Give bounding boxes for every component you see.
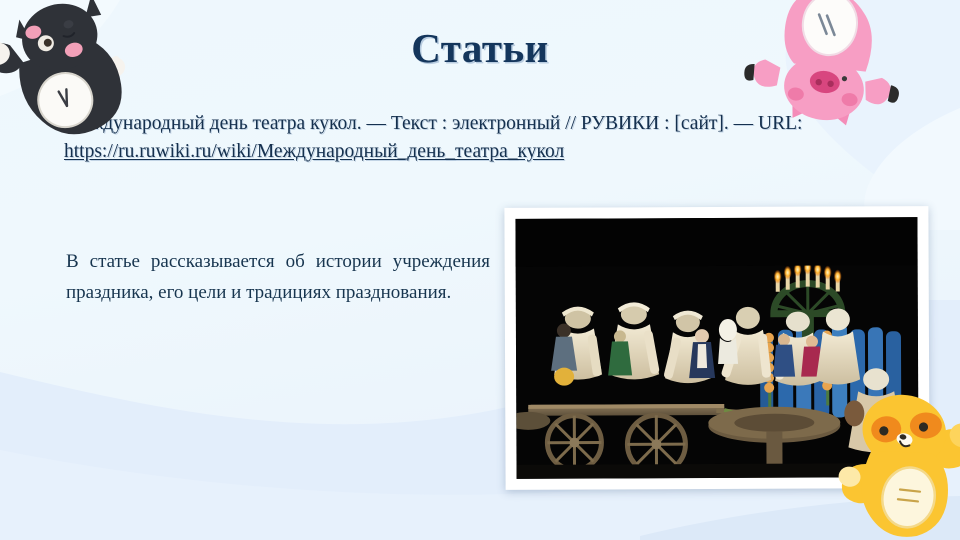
stage-photo-frame[interactable] [504, 206, 929, 490]
citation-url-link[interactable]: https://ru.ruwiki.ru/wiki/Международный_… [64, 141, 564, 162]
citation-source-title: Международный день театра кукол. [64, 113, 366, 134]
citation-site-note: [сайт]. — URL: [674, 113, 802, 134]
citation-block: Международный день театра кукол. — Текст… [64, 110, 864, 165]
slide-canvas: Статьи Международный день театра кукол. … [0, 0, 960, 540]
page-title: Статьи [0, 24, 960, 72]
citation-medium: — Текст : электронный // РУВИКИ : [366, 113, 674, 134]
article-description: В статье рассказывается об истории учреж… [66, 247, 490, 309]
article-description-text: В статье рассказывается об истории учреж… [66, 251, 490, 303]
stage-photo-image [515, 217, 918, 479]
